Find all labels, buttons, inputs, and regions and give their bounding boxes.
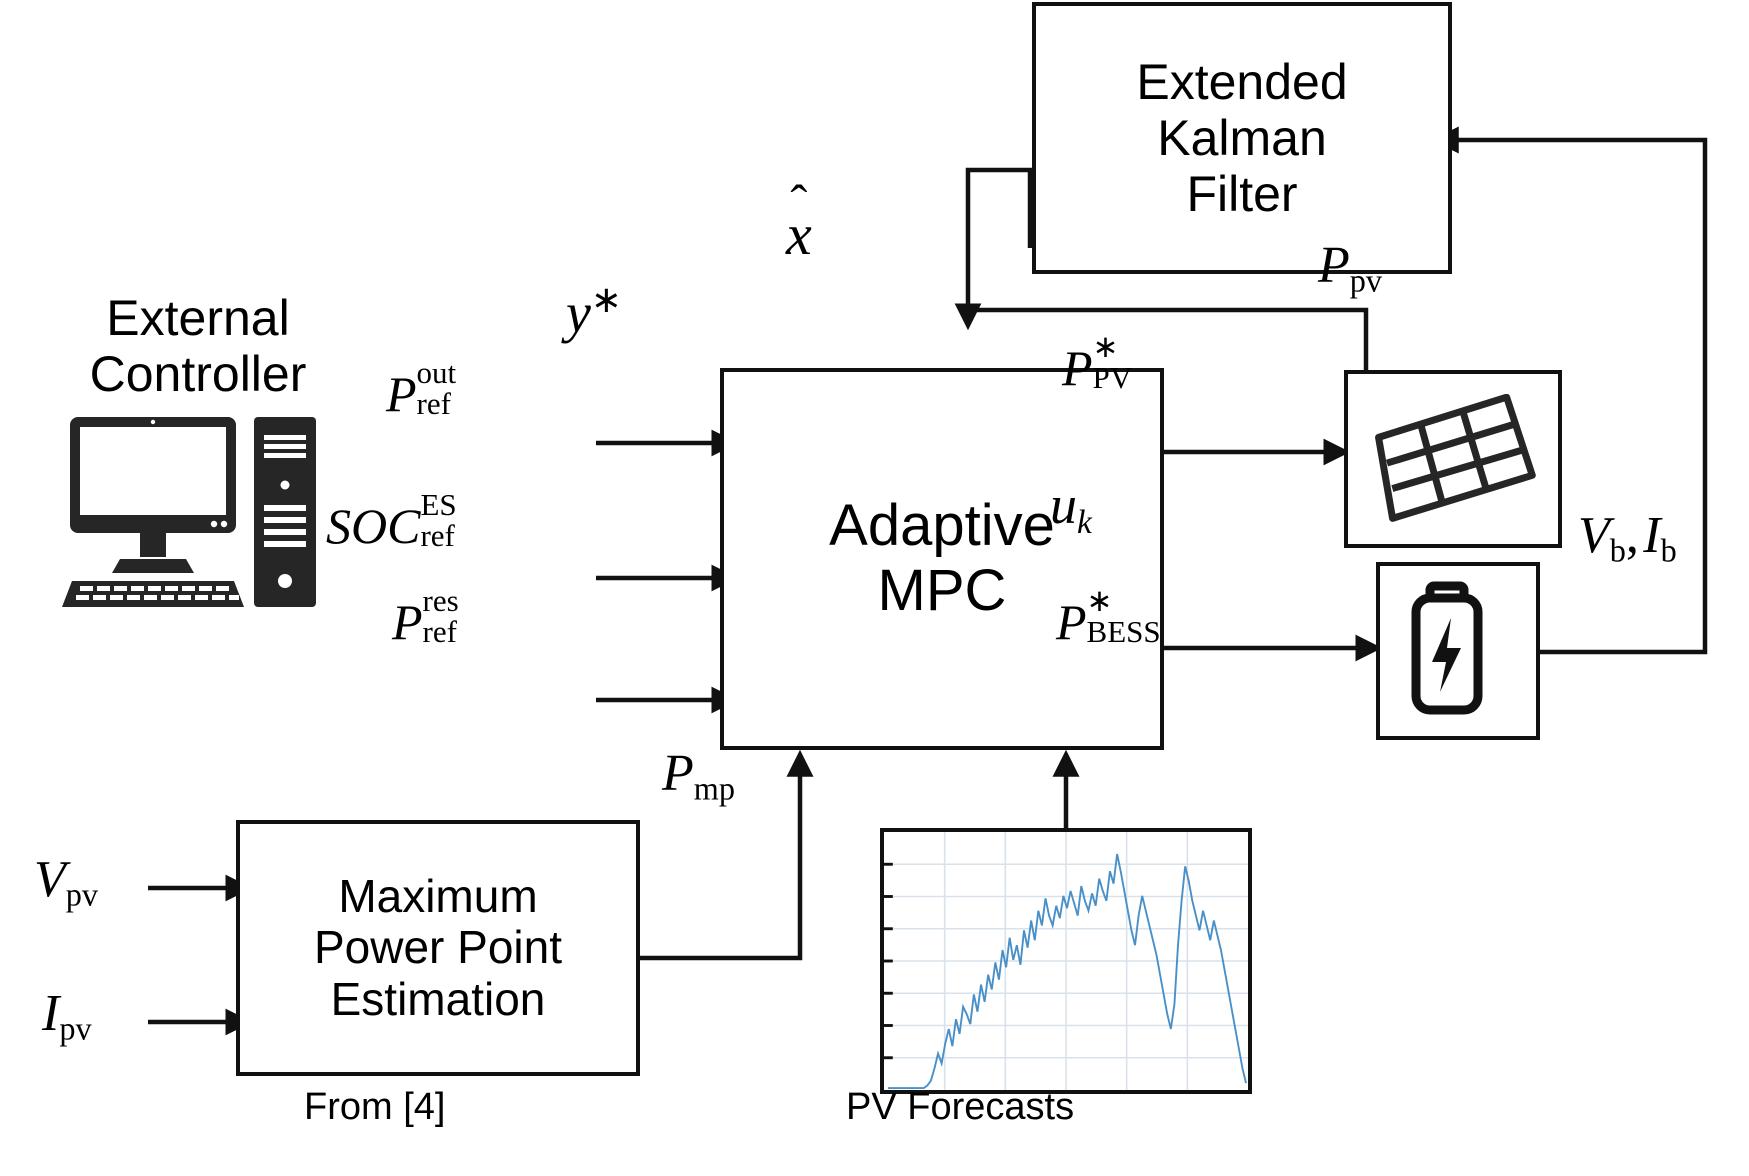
signal-vb-ib: Vb, Ib [1578, 510, 1677, 562]
desktop-computer-glyph [62, 413, 324, 609]
signal-y-star-base: y [566, 283, 591, 345]
pv-forecast-chart [880, 828, 1252, 1094]
mppt-line-2: Power Point [314, 922, 562, 974]
signal-y-star-sup: ∗ [591, 279, 622, 320]
ekf-line-3: Filter [1136, 166, 1347, 222]
signal-p-bess-star: P∗BESS [1056, 582, 1161, 647]
mpc-line-2: MPC [829, 559, 1055, 624]
ekf-line-1: Extended [1136, 54, 1347, 110]
external-controller-line-1: External [90, 290, 307, 346]
pv-forecast-sparkline [884, 832, 1248, 1090]
pv-forecasts-caption: PV Forecasts [846, 1086, 1074, 1129]
signal-v-pv: Vpv [34, 854, 98, 906]
battery-icon [1376, 562, 1540, 740]
mppt-label: Maximum Power Point Estimation [236, 820, 640, 1076]
signal-x-hat: x ̂ [786, 206, 812, 264]
from-reference-caption: From [4] [304, 1086, 445, 1129]
diagram-canvas: Extended Kalman Filter Adaptive MPC [0, 0, 1749, 1176]
desktop-computer-icon [60, 412, 326, 610]
mppt-line-3: Estimation [314, 974, 562, 1026]
solar-panel-glyph [1368, 394, 1538, 524]
adaptive-mpc-label: Adaptive MPC [720, 368, 1164, 750]
signal-u-k: uk [1050, 478, 1092, 532]
signal-soc-ref-es: SOCESref [326, 486, 457, 551]
mpc-line-1: Adaptive [829, 494, 1055, 559]
signal-p-ref-res: Presref [392, 582, 459, 647]
external-controller-line-2: Controller [90, 346, 307, 402]
ekf-line-2: Kalman [1136, 110, 1347, 166]
solar-panel-icon [1344, 370, 1562, 548]
signal-i-pv: Ipv [42, 988, 92, 1040]
signal-y-star: y∗ [566, 282, 622, 342]
battery-glyph [1406, 576, 1510, 726]
signal-p-mp: Pmp [662, 748, 735, 800]
external-controller-label: External Controller [48, 288, 348, 404]
signal-p-ref-out: Poutref [386, 354, 456, 419]
mppt-line-1: Maximum [314, 871, 562, 923]
signal-x-hat-base: x [786, 202, 812, 267]
extended-kalman-filter-label: Extended Kalman Filter [1032, 2, 1452, 274]
signal-p-pv-star: P∗PV [1062, 328, 1132, 393]
signal-p-pv: Ppv [1318, 240, 1382, 292]
